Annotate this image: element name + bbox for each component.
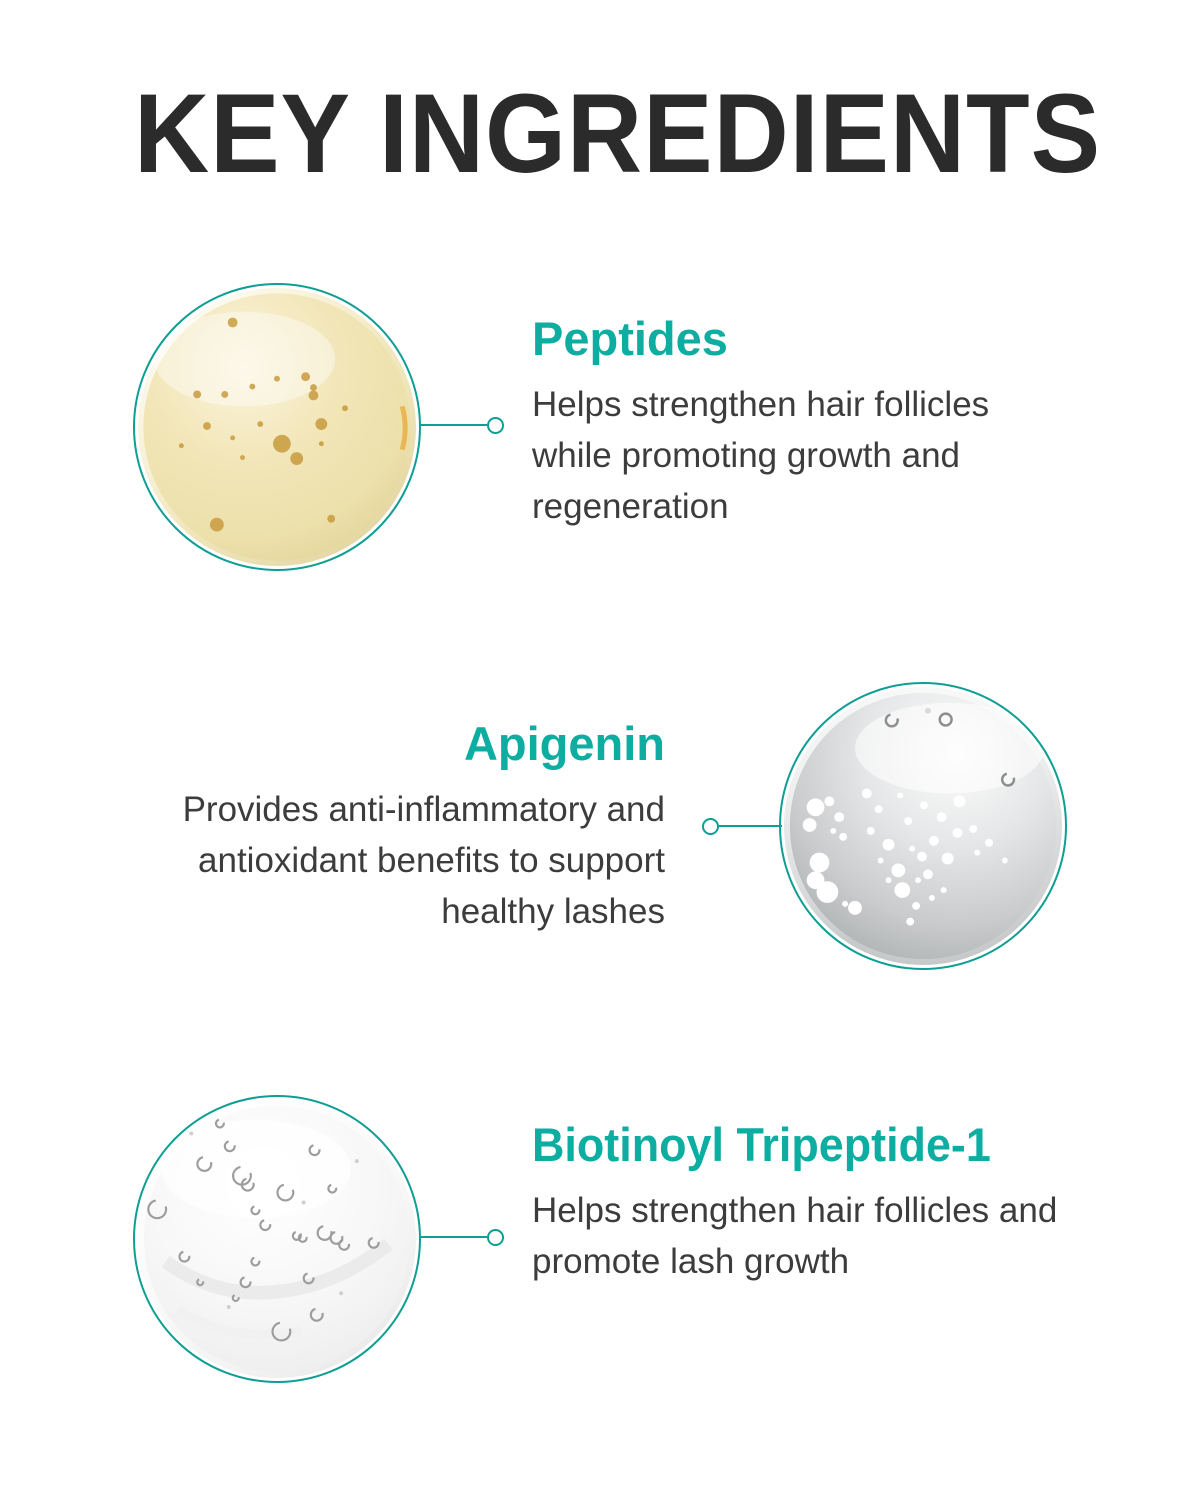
page-title: KEY INGREDIENTS	[134, 78, 1018, 190]
ingredient-name: Peptides	[532, 311, 1052, 367]
ingredient-name: Biotinoyl Tripeptide-1	[532, 1117, 1067, 1173]
connector-line-biotinoyl	[419, 1227, 504, 1247]
ingredient-row: Biotinoyl Tripeptide-1 Helps strengthen …	[0, 1095, 1201, 1395]
ingredient-row: Peptides Helps strengthen hair follicles…	[0, 283, 1201, 583]
ingredient-row: Apigenin Provides anti-inflammatory and …	[0, 682, 1201, 982]
key-ingredients-infographic: KEY INGREDIENTS	[0, 0, 1201, 1500]
connector-line	[419, 1236, 487, 1238]
ingredient-text-block: Biotinoyl Tripeptide-1 Helps strengthen …	[532, 1117, 1092, 1287]
ingredient-description: Provides anti-inflammatory and antioxida…	[140, 784, 665, 937]
ingredient-description: Helps strengthen hair follicles and prom…	[532, 1185, 1092, 1287]
ingredient-text-block: Apigenin Provides anti-inflammatory and …	[140, 716, 665, 937]
clear-gel-droplet-icon	[133, 1095, 421, 1383]
connector-line-peptides	[419, 415, 504, 435]
connector-node-dot	[702, 818, 719, 835]
golden-gel-droplet-icon	[133, 283, 421, 571]
connector-node-dot	[487, 417, 504, 434]
ingredient-name: Apigenin	[140, 716, 665, 772]
connector-line	[719, 825, 782, 827]
connector-line-apigenin	[702, 816, 782, 836]
connector-line	[419, 424, 487, 426]
ingredient-text-block: Peptides Helps strengthen hair follicles…	[532, 311, 1052, 532]
silver-gel-droplet-icon	[779, 682, 1067, 970]
ingredient-description: Helps strengthen hair follicles while pr…	[532, 379, 1052, 532]
connector-node-dot	[487, 1229, 504, 1246]
